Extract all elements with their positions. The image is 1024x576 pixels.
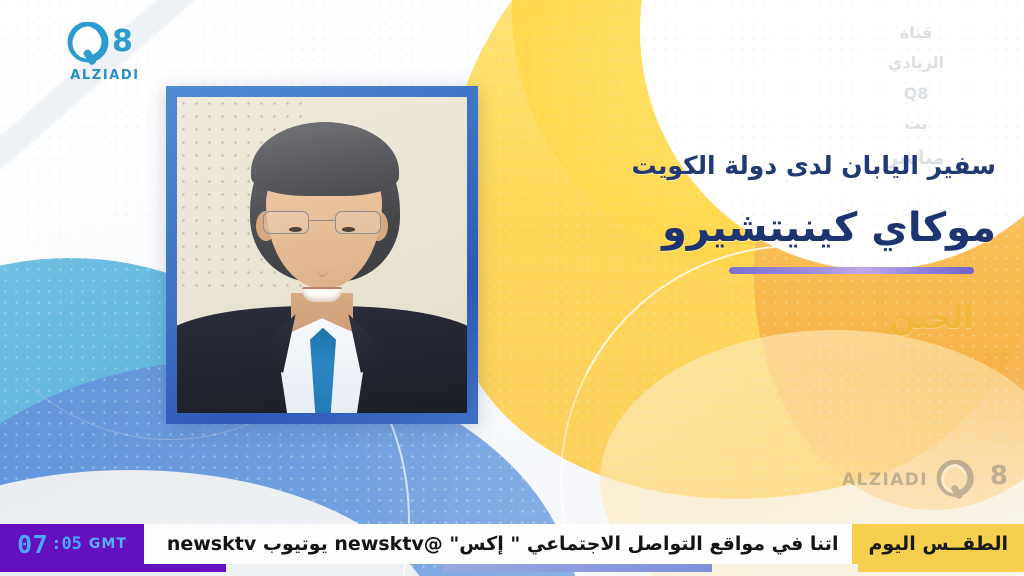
watermark-line-2: الزيادي	[856, 48, 976, 78]
watermark-line-1: قناة	[856, 18, 976, 48]
portrait-mouth	[302, 287, 342, 302]
eyeglass-lens-left	[263, 211, 309, 234]
ticker-headline: اتنا في مواقع التواصل الاجتماعي " إكس" @…	[153, 533, 853, 555]
channel-logo: 8 ALZIADI	[58, 22, 152, 90]
corner-watermark-logo: ALZIADI 8	[842, 460, 1008, 500]
ticker-text-area: اتنا في مواقع التواصل الاجتماعي " إكس" @…	[144, 524, 852, 564]
watermark-logo-q8: 8	[934, 460, 1008, 500]
guest-name: موكاي كينيتشيرو	[376, 205, 996, 251]
watermark-logo-wordmark: ALZIADI	[842, 470, 928, 490]
logo-eight-glyph: 8	[112, 24, 132, 59]
eyeglass-bridge	[309, 220, 335, 222]
rule-segment-blue	[442, 564, 712, 572]
eyeglass-lens-right	[335, 211, 381, 234]
clock-minutes: :05	[51, 534, 82, 554]
rule-segment-purple	[0, 564, 226, 572]
guest-role: سفير اليابان لدى دولة الكويت	[376, 150, 996, 183]
clock-widget: 07 :05 GMT	[0, 524, 144, 564]
watermark-line-4: بث	[856, 109, 976, 139]
portrait-nose	[316, 255, 329, 277]
q8-swirl-icon	[66, 22, 114, 66]
logo-q8-lockup: 8	[58, 22, 152, 66]
q8-swirl-watermark-icon	[934, 460, 980, 500]
logo-wordmark: ALZIADI	[58, 68, 152, 83]
watermark-line-3: Q8	[856, 79, 976, 109]
portrait-eyeglasses	[263, 211, 381, 235]
clock-timezone: GMT	[89, 536, 127, 552]
guest-status-label: الحين	[376, 300, 974, 336]
clock-hours: 07	[17, 530, 48, 559]
broadcast-screen: 8 ALZIADI قناة الزيادي Q8 بث مباشر	[0, 0, 1024, 576]
rule-segment-gap	[226, 564, 442, 572]
rule-segment-yellow	[858, 564, 1024, 572]
watermark-eight-glyph: 8	[990, 461, 1008, 491]
guest-info-block: سفير اليابان لدى دولة الكويت موكاي كينيت…	[376, 150, 996, 336]
news-ticker-bar: 07 :05 GMT اتنا في مواقع التواصل الاجتما…	[0, 524, 1024, 564]
ticker-underline-rule	[0, 564, 1024, 572]
name-underline-accent	[729, 267, 974, 274]
weather-today-badge: الطقــس اليوم	[852, 524, 1024, 564]
rule-segment-rest	[712, 564, 858, 572]
